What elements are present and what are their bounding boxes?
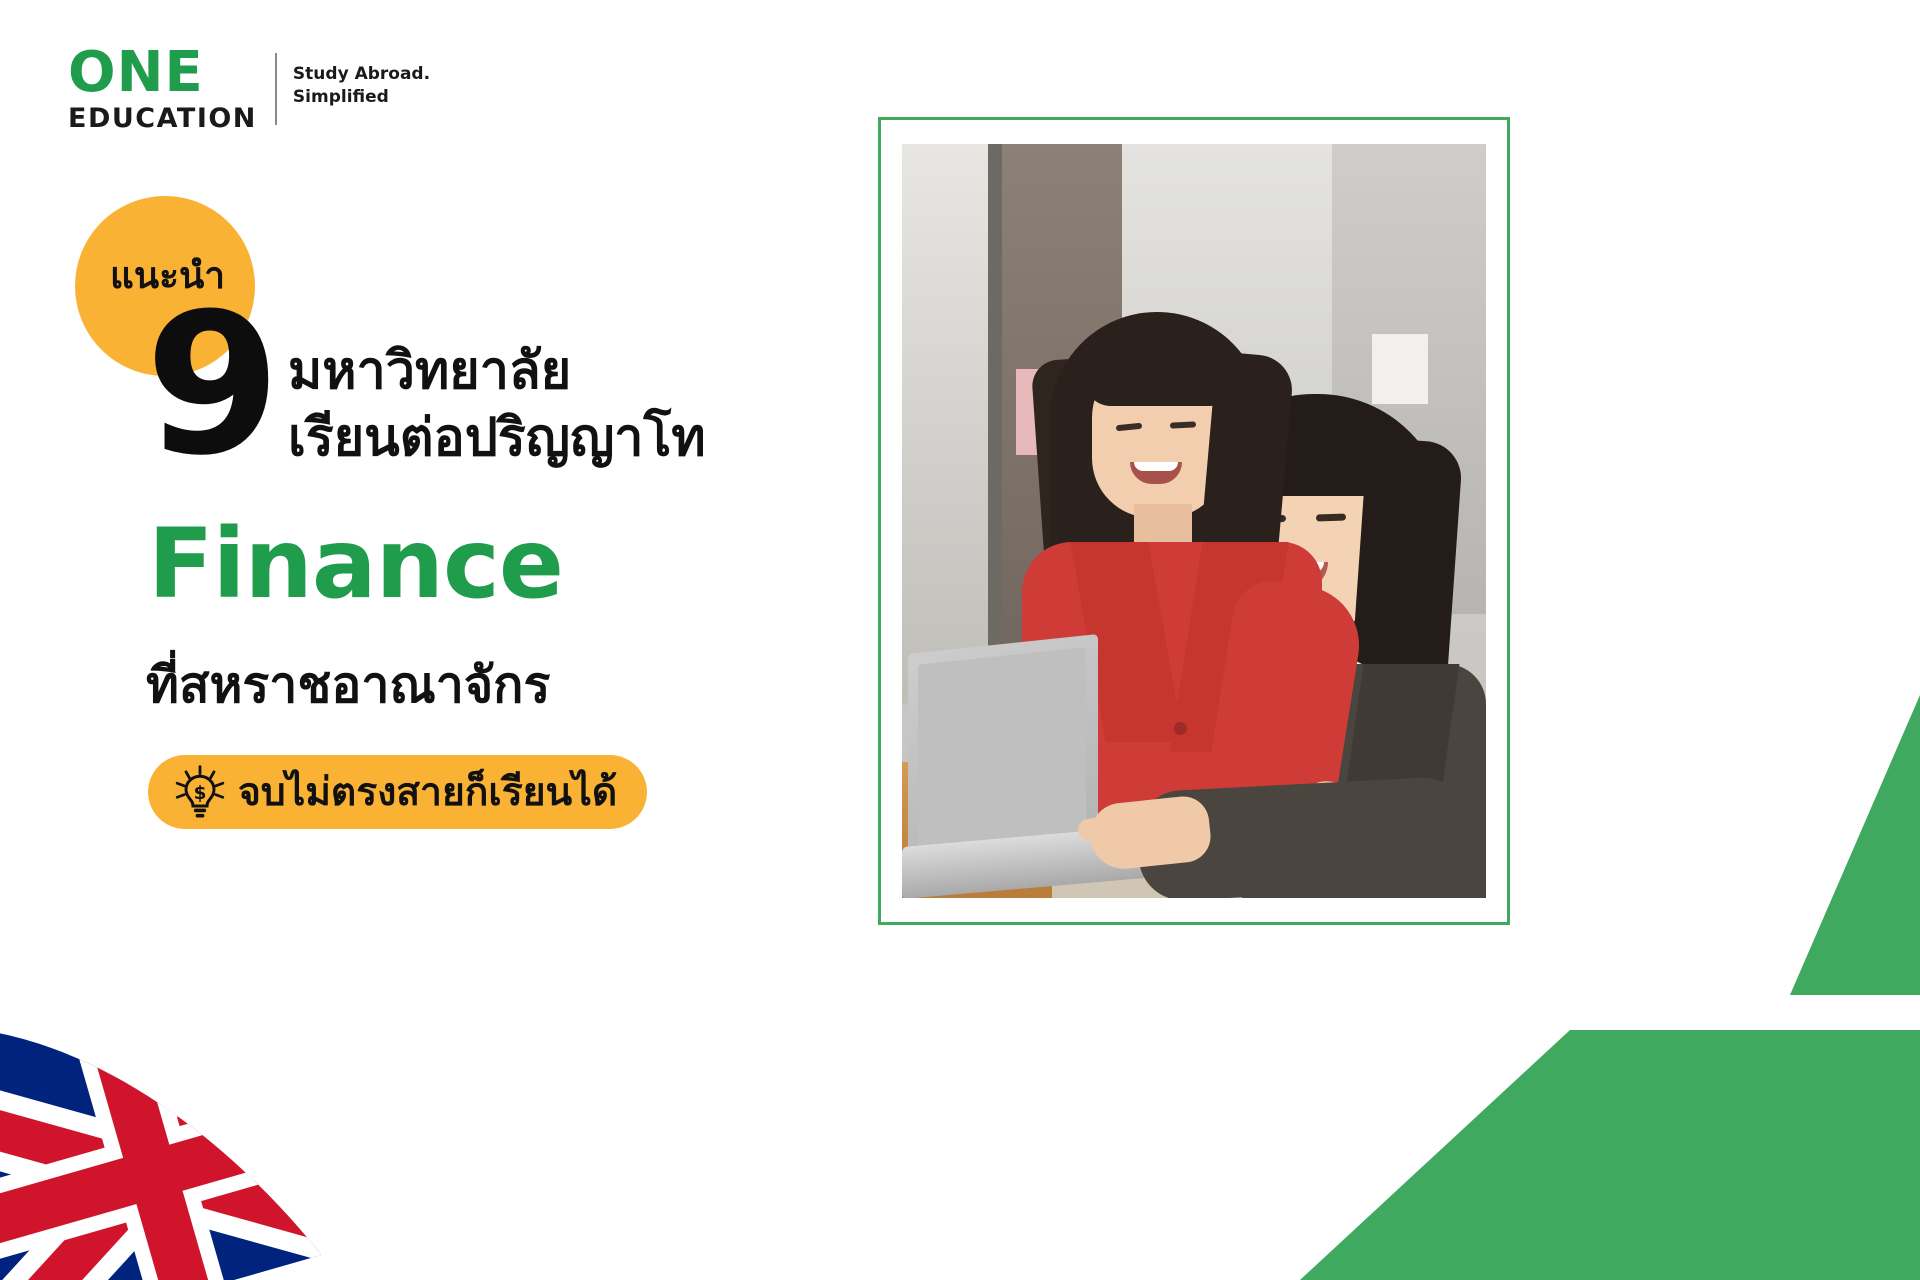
tagline-line-2: Simplified [293,86,430,109]
subject-title: Finance [148,516,563,612]
union-jack-flag [0,940,430,1280]
lightbulb-dollar-icon: $ [172,764,228,820]
headline: มหาวิทยาลัย เรียนต่อปริญญาโท [288,338,706,471]
hero-photo [902,144,1486,898]
count-number: 9 [145,287,277,482]
green-wedge-right [1790,695,1920,995]
badge-pill[interactable]: $ จบไม่ตรงสายก็เรียนได้ [148,755,647,829]
logo-tagline: Study Abroad. Simplified [293,63,430,109]
logo-wordmark: ONE EDUCATION [68,45,257,132]
headline-line-2: เรียนต่อปริญญาโท [288,405,706,472]
badge-label: จบไม่ตรงสายก็เรียนได้ [238,773,617,812]
brand-logo[interactable]: ONE EDUCATION Study Abroad. Simplified [68,45,430,132]
poster-canvas: ONE EDUCATION Study Abroad. Simplified แ… [0,0,1920,1280]
logo-one-text: ONE [68,45,257,101]
logo-divider [275,53,277,125]
svg-text:$: $ [194,783,207,804]
logo-education-text: EDUCATION [68,105,257,132]
tagline-line-1: Study Abroad. [293,63,430,86]
country-line: ที่สหราชอาณาจักร [146,660,550,710]
green-wedge-bottom-right [1300,1030,1920,1280]
headline-line-1: มหาวิทยาลัย [288,338,706,405]
